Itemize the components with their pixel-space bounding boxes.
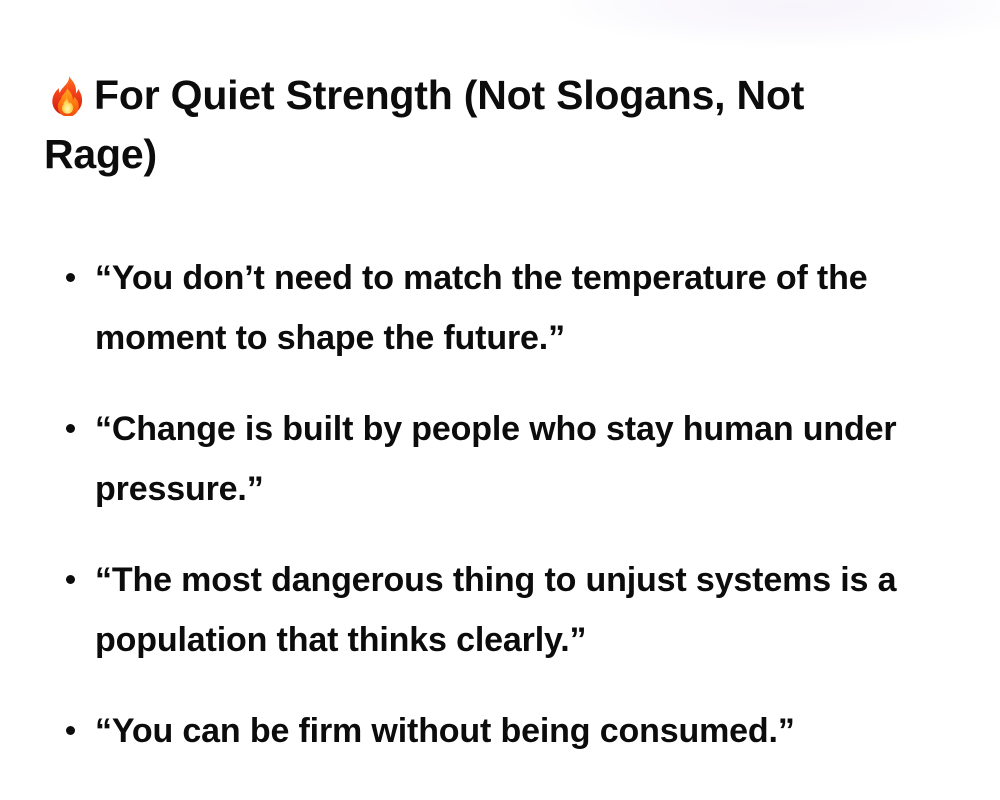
page-title-text: For Quiet Strength (Not Slogans, Not Rag… (44, 72, 804, 177)
quote-text: “You don’t need to match the temperature… (95, 259, 867, 357)
list-item: “You don’t need to match the temperature… (44, 248, 974, 368)
list-item: “You can be firm without being consumed.… (44, 701, 974, 761)
page-title: For Quiet Strength (Not Slogans, Not Rag… (44, 66, 874, 184)
quote-list: “You don’t need to match the temperature… (44, 248, 974, 761)
background-tint (560, 0, 1000, 46)
quote-text: “The most dangerous thing to unjust syst… (95, 561, 896, 659)
quote-text: “You can be firm without being consumed.… (95, 712, 795, 750)
bullet-marker (66, 273, 75, 282)
quote-text: “Change is built by people who stay huma… (95, 410, 896, 508)
list-item: “Change is built by people who stay huma… (44, 399, 974, 519)
bullet-marker (66, 726, 75, 735)
bullet-marker (66, 424, 75, 433)
fire-emoji (44, 72, 88, 116)
list-item: “The most dangerous thing to unjust syst… (44, 550, 974, 670)
bullet-marker (66, 575, 75, 584)
